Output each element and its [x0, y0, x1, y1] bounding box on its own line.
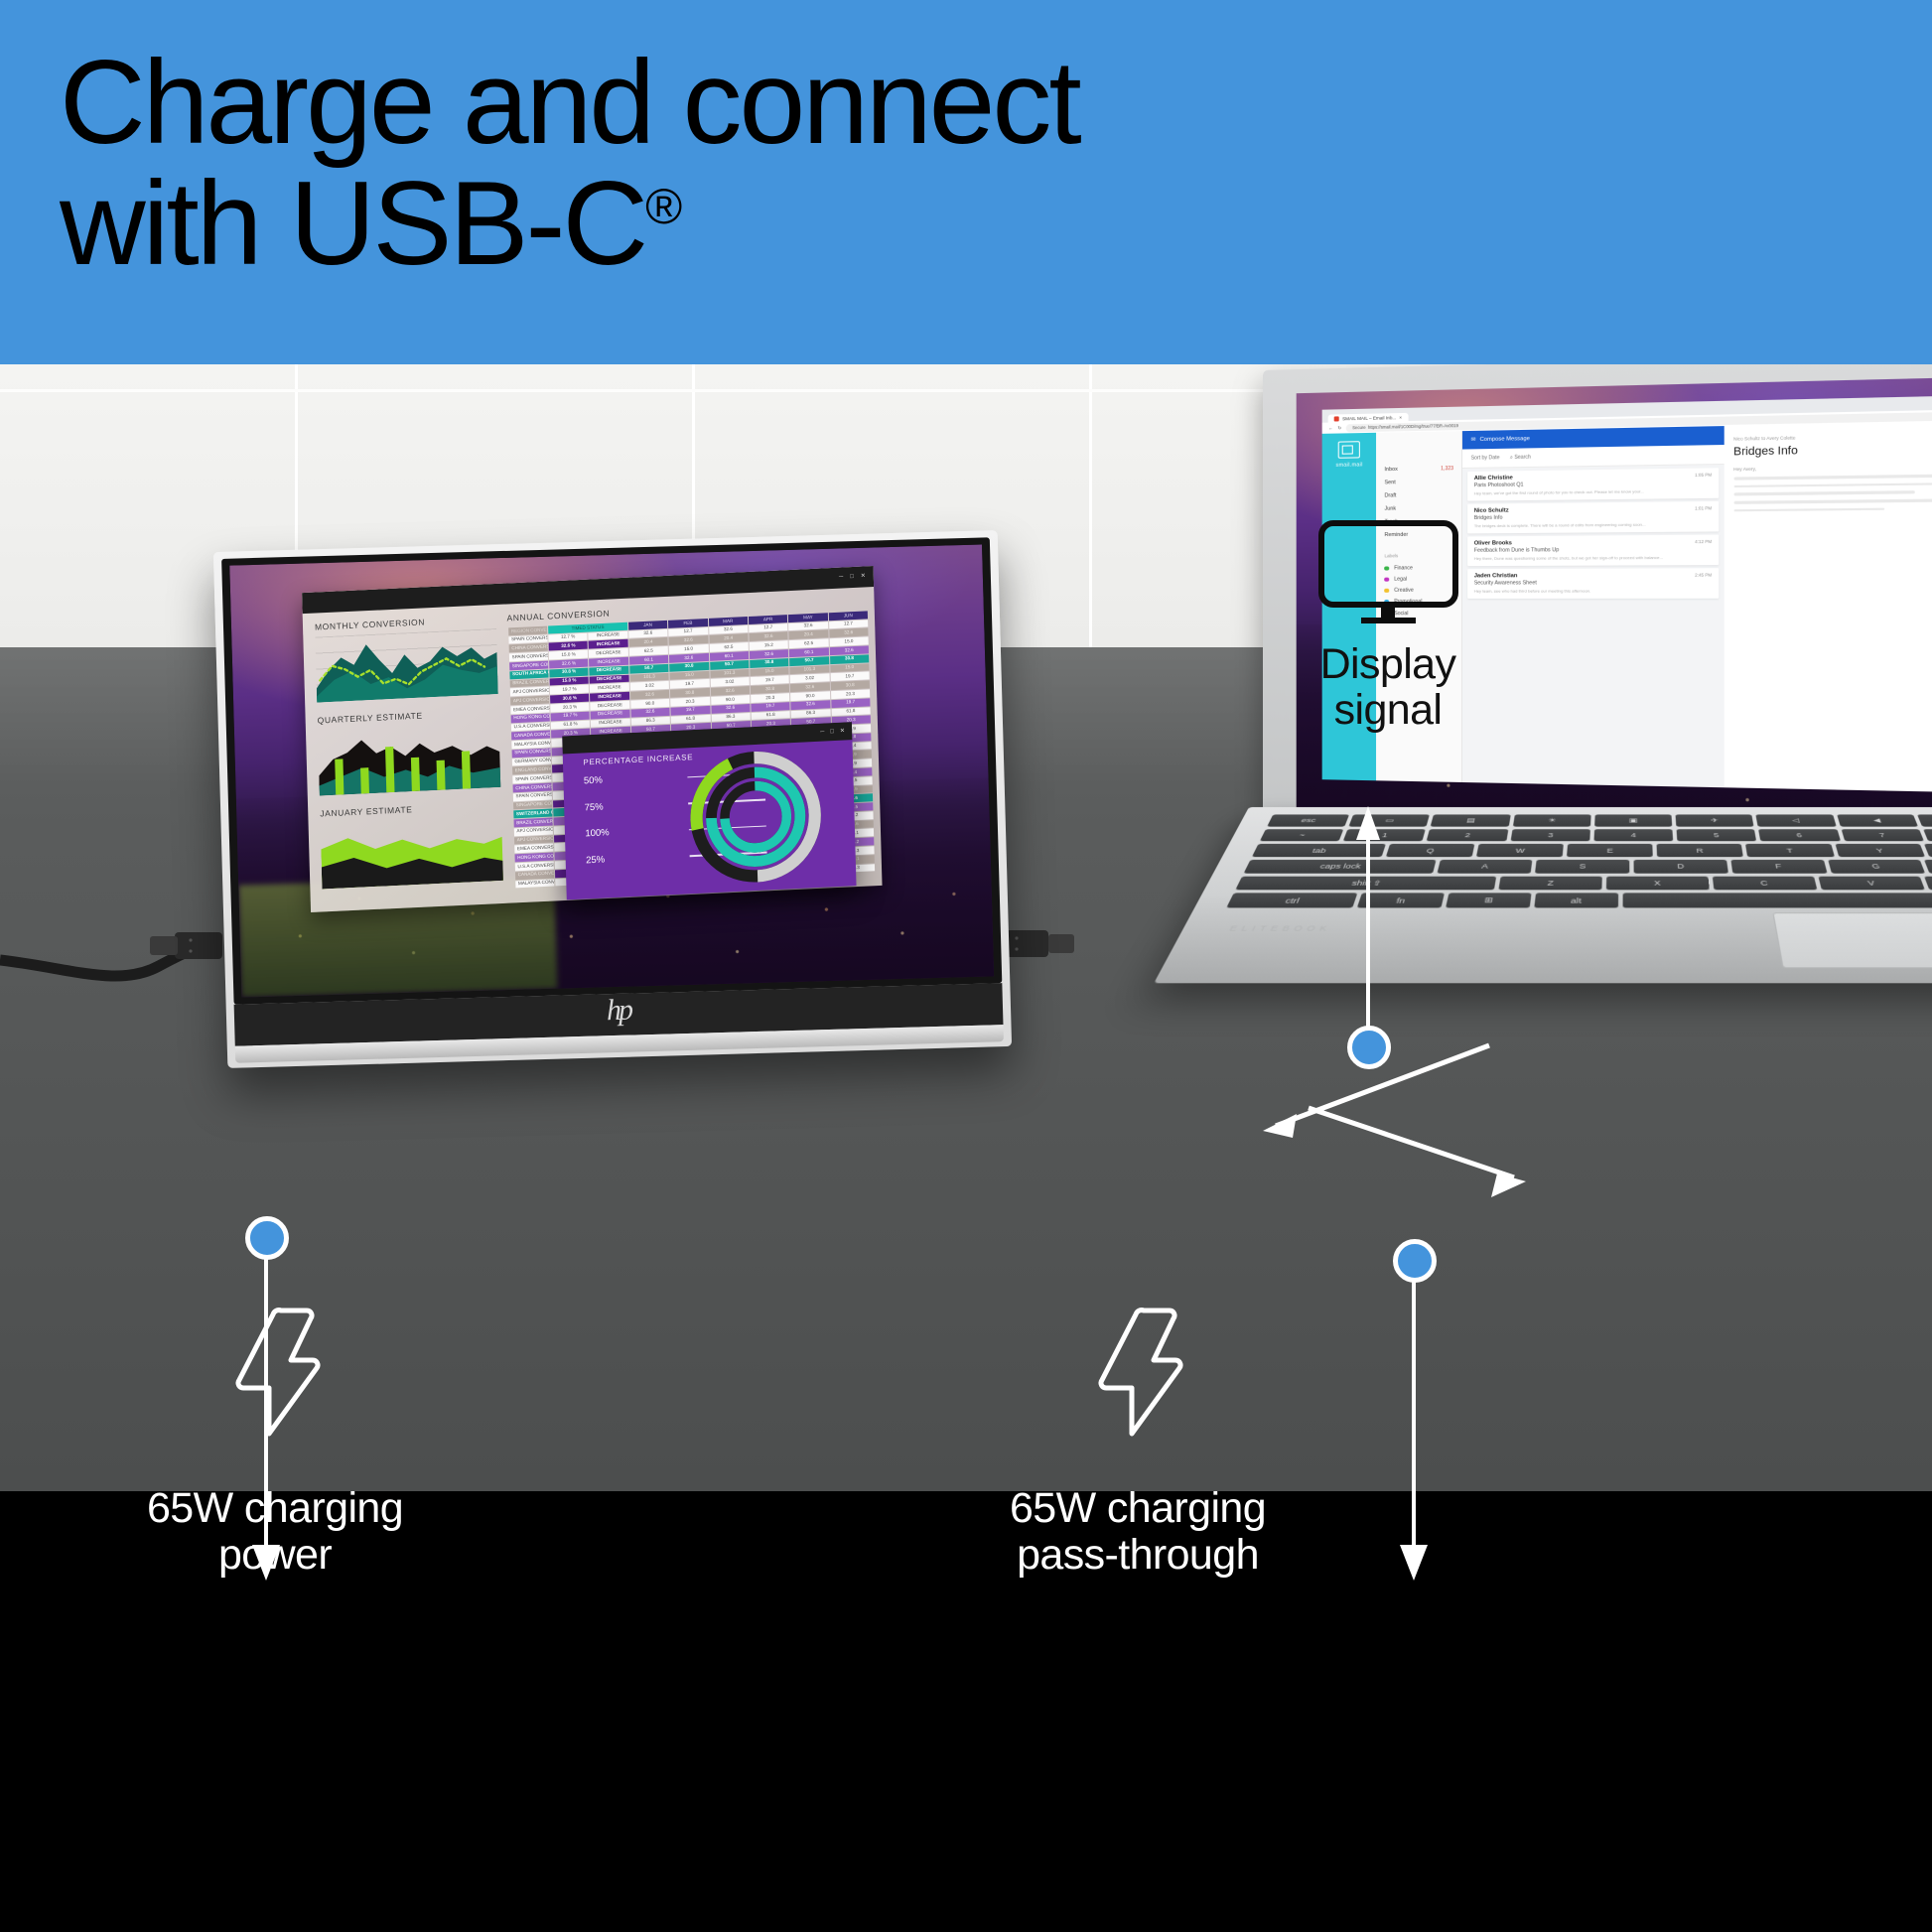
key-y[interactable]: Y — [1835, 844, 1925, 857]
key-f[interactable]: F — [1730, 860, 1827, 874]
legend-50: 50% — [583, 771, 681, 787]
message-sender: Nico Schultz — [1474, 508, 1509, 515]
percentage-increase-window[interactable]: ─ □ ✕ PERCENTAGE INCREASE 50% 75% 100% 2… — [562, 723, 856, 900]
display-signal-callout: Display signal — [1279, 519, 1497, 733]
body-text-line — [1733, 498, 1932, 503]
legend-25: 25% — [586, 851, 684, 867]
january-estimate-chart — [321, 815, 503, 890]
key-f4[interactable]: ▣ — [1594, 814, 1672, 826]
message-time: 2:45 PM — [1695, 573, 1712, 578]
message-list-item[interactable]: Allie Christine1:05 PMParis Photoshoot Q… — [1468, 468, 1719, 500]
close-icon[interactable]: ✕ — [840, 729, 845, 735]
key-t[interactable]: T — [1746, 844, 1835, 857]
hp-logo: hp — [606, 994, 630, 1029]
lightning-bolt-icon — [1092, 1305, 1183, 1440]
key-f5[interactable]: ✈ — [1676, 814, 1754, 826]
key-r[interactable]: R — [1657, 844, 1743, 857]
folder-item-draft[interactable]: Draft — [1376, 488, 1461, 502]
header-band: Charge and connect with USB-C® — [0, 0, 1932, 364]
compose-icon: ✉ — [1471, 437, 1476, 443]
key-f1[interactable]: ▭ — [1349, 814, 1431, 826]
keyboard-row-modifier: ctrlfn⊞alt — [1226, 894, 1932, 908]
maximize-icon[interactable]: □ — [850, 574, 854, 580]
keyboard-row-numbers: ~12345678 — [1260, 829, 1932, 841]
message-preview: Hey team, we've got the first round of p… — [1474, 488, 1712, 497]
message-list-item[interactable]: Jaden Christian2:45 PMSecurity Awareness… — [1468, 568, 1719, 599]
callout-dot-display-signal[interactable] — [1347, 1026, 1391, 1069]
key-v[interactable]: V — [1818, 876, 1925, 890]
charging-power-label: 65W charging power — [0, 1485, 553, 1580]
laptop-keyboard[interactable]: esc▭▤☀▣✈◁◀▶ ~12345678 tabQWERTYU caps lo… — [1226, 814, 1932, 907]
tab-close-icon[interactable]: × — [1399, 415, 1402, 420]
favicon-icon — [1334, 417, 1339, 422]
key-d[interactable]: D — [1634, 860, 1728, 874]
key-z[interactable]: Z — [1498, 876, 1602, 890]
lightning-bolt-icon — [229, 1305, 321, 1440]
folder-item-inbox[interactable]: Inbox1,323 — [1376, 462, 1461, 477]
product-marketing-image: Charge and connect with USB-C® — [0, 0, 1932, 1932]
key-s[interactable]: S — [1535, 860, 1629, 874]
key-w[interactable]: W — [1476, 844, 1564, 857]
message-subject: Feedback from Dune is Thumbs Up — [1474, 546, 1712, 554]
key-c[interactable]: C — [1713, 876, 1818, 890]
mail-list-column: ✉ Compose Message Sort by Date ⌕ Search … — [1462, 426, 1724, 787]
body-text-line — [1733, 483, 1932, 488]
message-subject: Security Awareness Sheet — [1474, 580, 1712, 587]
key-5[interactable]: 5 — [1677, 829, 1757, 841]
laptop-base: esc▭▤☀▣✈◁◀▶ ~12345678 tabQWERTYU caps lo… — [1154, 807, 1932, 983]
reading-pane-sender: Nico Schultz to Avery Colette — [1733, 432, 1932, 442]
page-title: Charge and connect with USB-C® — [60, 42, 1449, 285]
sort-by-date-button[interactable]: Sort by Date — [1471, 455, 1500, 462]
key-q[interactable]: Q — [1386, 844, 1475, 857]
charging-power-callout: 65W charging power — [0, 1281, 553, 1580]
monthly-conversion-chart — [315, 628, 497, 703]
message-subject: Bridges Info — [1474, 513, 1712, 521]
key-caps-lock[interactable]: caps lock — [1244, 860, 1436, 874]
key-fn[interactable]: fn — [1357, 894, 1445, 908]
key-7[interactable]: 7 — [1841, 829, 1924, 841]
charging-power-icon-wrap — [0, 1281, 553, 1440]
charging-passthrough-icon-wrap — [860, 1281, 1416, 1440]
folder-item-junk[interactable]: Junk — [1376, 501, 1461, 515]
message-preview: Hey team, see who had third before our m… — [1474, 588, 1712, 595]
key-f3[interactable]: ☀ — [1513, 814, 1591, 826]
laptop-trackpad[interactable] — [1772, 912, 1932, 968]
charging-passthrough-callout: 65W charging pass-through — [860, 1281, 1416, 1580]
keyboard-row-home: caps lockASDFGH — [1244, 860, 1932, 874]
folder-count: 1,323 — [1441, 466, 1453, 472]
key-g[interactable]: G — [1828, 860, 1926, 874]
monitor-bezel: ─ □ ✕ MONTHLY CONVERSION — [221, 537, 1002, 1004]
folder-label: Inbox — [1384, 467, 1397, 473]
elitebook-branding: ELITEBOOK — [1228, 924, 1333, 932]
reading-pane: Nico Schultz to Avery Colette Bridges In… — [1724, 421, 1932, 793]
key-f7[interactable]: ◀ — [1837, 814, 1918, 826]
key-h[interactable]: H — [1924, 860, 1932, 874]
keyboard-row-shift: shift ⇧ZXCVB — [1235, 876, 1932, 890]
callout-dot-passthrough[interactable] — [1393, 1239, 1437, 1283]
key-a[interactable]: A — [1437, 860, 1533, 874]
headline-line-2: with USB-C® — [60, 163, 1449, 284]
display-signal-label: Display signal — [1279, 641, 1497, 733]
folder-label: Draft — [1384, 492, 1396, 498]
key-backtick[interactable]: ~ — [1260, 829, 1344, 841]
folder-label: Sent — [1384, 480, 1395, 485]
mail-logo-icon — [1338, 441, 1360, 459]
message-preview: Hey there, Dune was questioning some of … — [1474, 555, 1712, 562]
key-esc[interactable]: esc — [1267, 814, 1349, 826]
folder-item-sent[interactable]: Sent — [1376, 475, 1461, 488]
dashboard-left-column: MONTHLY CONVERSION QUARTERLY E — [303, 605, 511, 912]
close-icon[interactable]: ✕ — [861, 574, 866, 580]
reading-pane-subject: Bridges Info — [1733, 442, 1932, 459]
key-tab[interactable]: tab — [1252, 844, 1386, 857]
monitor-icon — [1316, 519, 1460, 626]
message-time: 4:12 PM — [1695, 539, 1712, 544]
maximize-icon[interactable]: □ — [830, 729, 834, 735]
reading-pane-greeting: Hey Avery, — [1733, 463, 1932, 472]
cell-region: MALAYSIA CONVERSION — [515, 879, 555, 889]
body-text-line — [1733, 491, 1915, 496]
usb-c-connector-left — [150, 932, 222, 959]
url-text: https://smail.mail/1C00D/mg/true/77/BR-A… — [1368, 423, 1458, 430]
key-f6[interactable]: ◁ — [1756, 814, 1837, 826]
headline-line-1: Charge and connect — [60, 36, 1079, 169]
secure-label: Secure — [1352, 425, 1365, 430]
body-text-line — [1733, 507, 1884, 511]
legend-75: 75% — [584, 798, 682, 814]
folder-label: Junk — [1384, 505, 1396, 511]
keyboard-row-qwerty: tabQWERTYU — [1252, 844, 1932, 857]
key-1[interactable]: 1 — [1343, 829, 1426, 841]
quarterly-estimate-chart — [318, 722, 500, 796]
key-6[interactable]: 6 — [1758, 829, 1840, 841]
radial-donut-chart — [669, 746, 841, 889]
body-text-line — [1733, 474, 1932, 480]
message-list-item[interactable]: Oliver Brooks4:12 PMFeedback from Dune i… — [1468, 535, 1719, 567]
compose-label: Compose Message — [1480, 436, 1530, 443]
key-f2[interactable]: ▤ — [1431, 814, 1510, 826]
monitor-screen: ─ □ ✕ MONTHLY CONVERSION — [229, 545, 994, 998]
key-shift[interactable]: shift ⇧ — [1235, 876, 1496, 890]
callout-dot-charging-power[interactable] — [245, 1216, 289, 1260]
mail-brand-name: smail.mail — [1336, 463, 1363, 469]
message-time: 1:05 PM — [1695, 473, 1712, 478]
key-f8[interactable]: ▶ — [1917, 814, 1932, 826]
back-icon[interactable]: ← — [1328, 426, 1332, 431]
key-3[interactable]: 3 — [1510, 829, 1590, 841]
portable-monitor: ─ □ ✕ MONTHLY CONVERSION — [213, 530, 1012, 1068]
key-x[interactable]: X — [1606, 876, 1710, 890]
key-4[interactable]: 4 — [1593, 829, 1673, 841]
message-list: Allie Christine1:05 PMParis Photoshoot Q… — [1462, 465, 1724, 602]
trademark-symbol: ® — [645, 178, 682, 234]
key-alt[interactable]: alt — [1534, 894, 1618, 908]
key-8[interactable]: 8 — [1923, 829, 1932, 841]
search-input[interactable]: ⌕ Search — [1510, 455, 1531, 462]
usb-c-connector-right — [1001, 930, 1074, 957]
minimize-icon[interactable]: ─ — [839, 575, 843, 581]
charging-passthrough-label: 65W charging pass-through — [860, 1485, 1416, 1580]
key-space[interactable] — [1622, 894, 1932, 908]
key-ctrl[interactable]: ctrl — [1226, 894, 1357, 908]
message-time: 1:01 PM — [1695, 505, 1712, 510]
keyboard-row-function: esc▭▤☀▣✈◁◀▶ — [1267, 814, 1932, 826]
percentage-legend: 50% 75% 100% 25% — [583, 771, 684, 882]
key-2[interactable]: 2 — [1427, 829, 1508, 841]
message-sender: Allie Christine — [1474, 476, 1513, 483]
key-windows[interactable]: ⊞ — [1446, 894, 1531, 908]
message-list-item[interactable]: Nico Schultz1:01 PMBridges InfoThe bridg… — [1468, 501, 1719, 533]
reload-icon[interactable]: ↻ — [1337, 425, 1341, 431]
key-e[interactable]: E — [1567, 844, 1653, 857]
key-u[interactable]: U — [1924, 844, 1932, 857]
legend-100: 100% — [585, 824, 683, 840]
message-preview: The bridges deck is complete. There will… — [1474, 521, 1712, 529]
minimize-icon[interactable]: ─ — [820, 730, 824, 736]
key-b[interactable]: B — [1924, 876, 1932, 890]
